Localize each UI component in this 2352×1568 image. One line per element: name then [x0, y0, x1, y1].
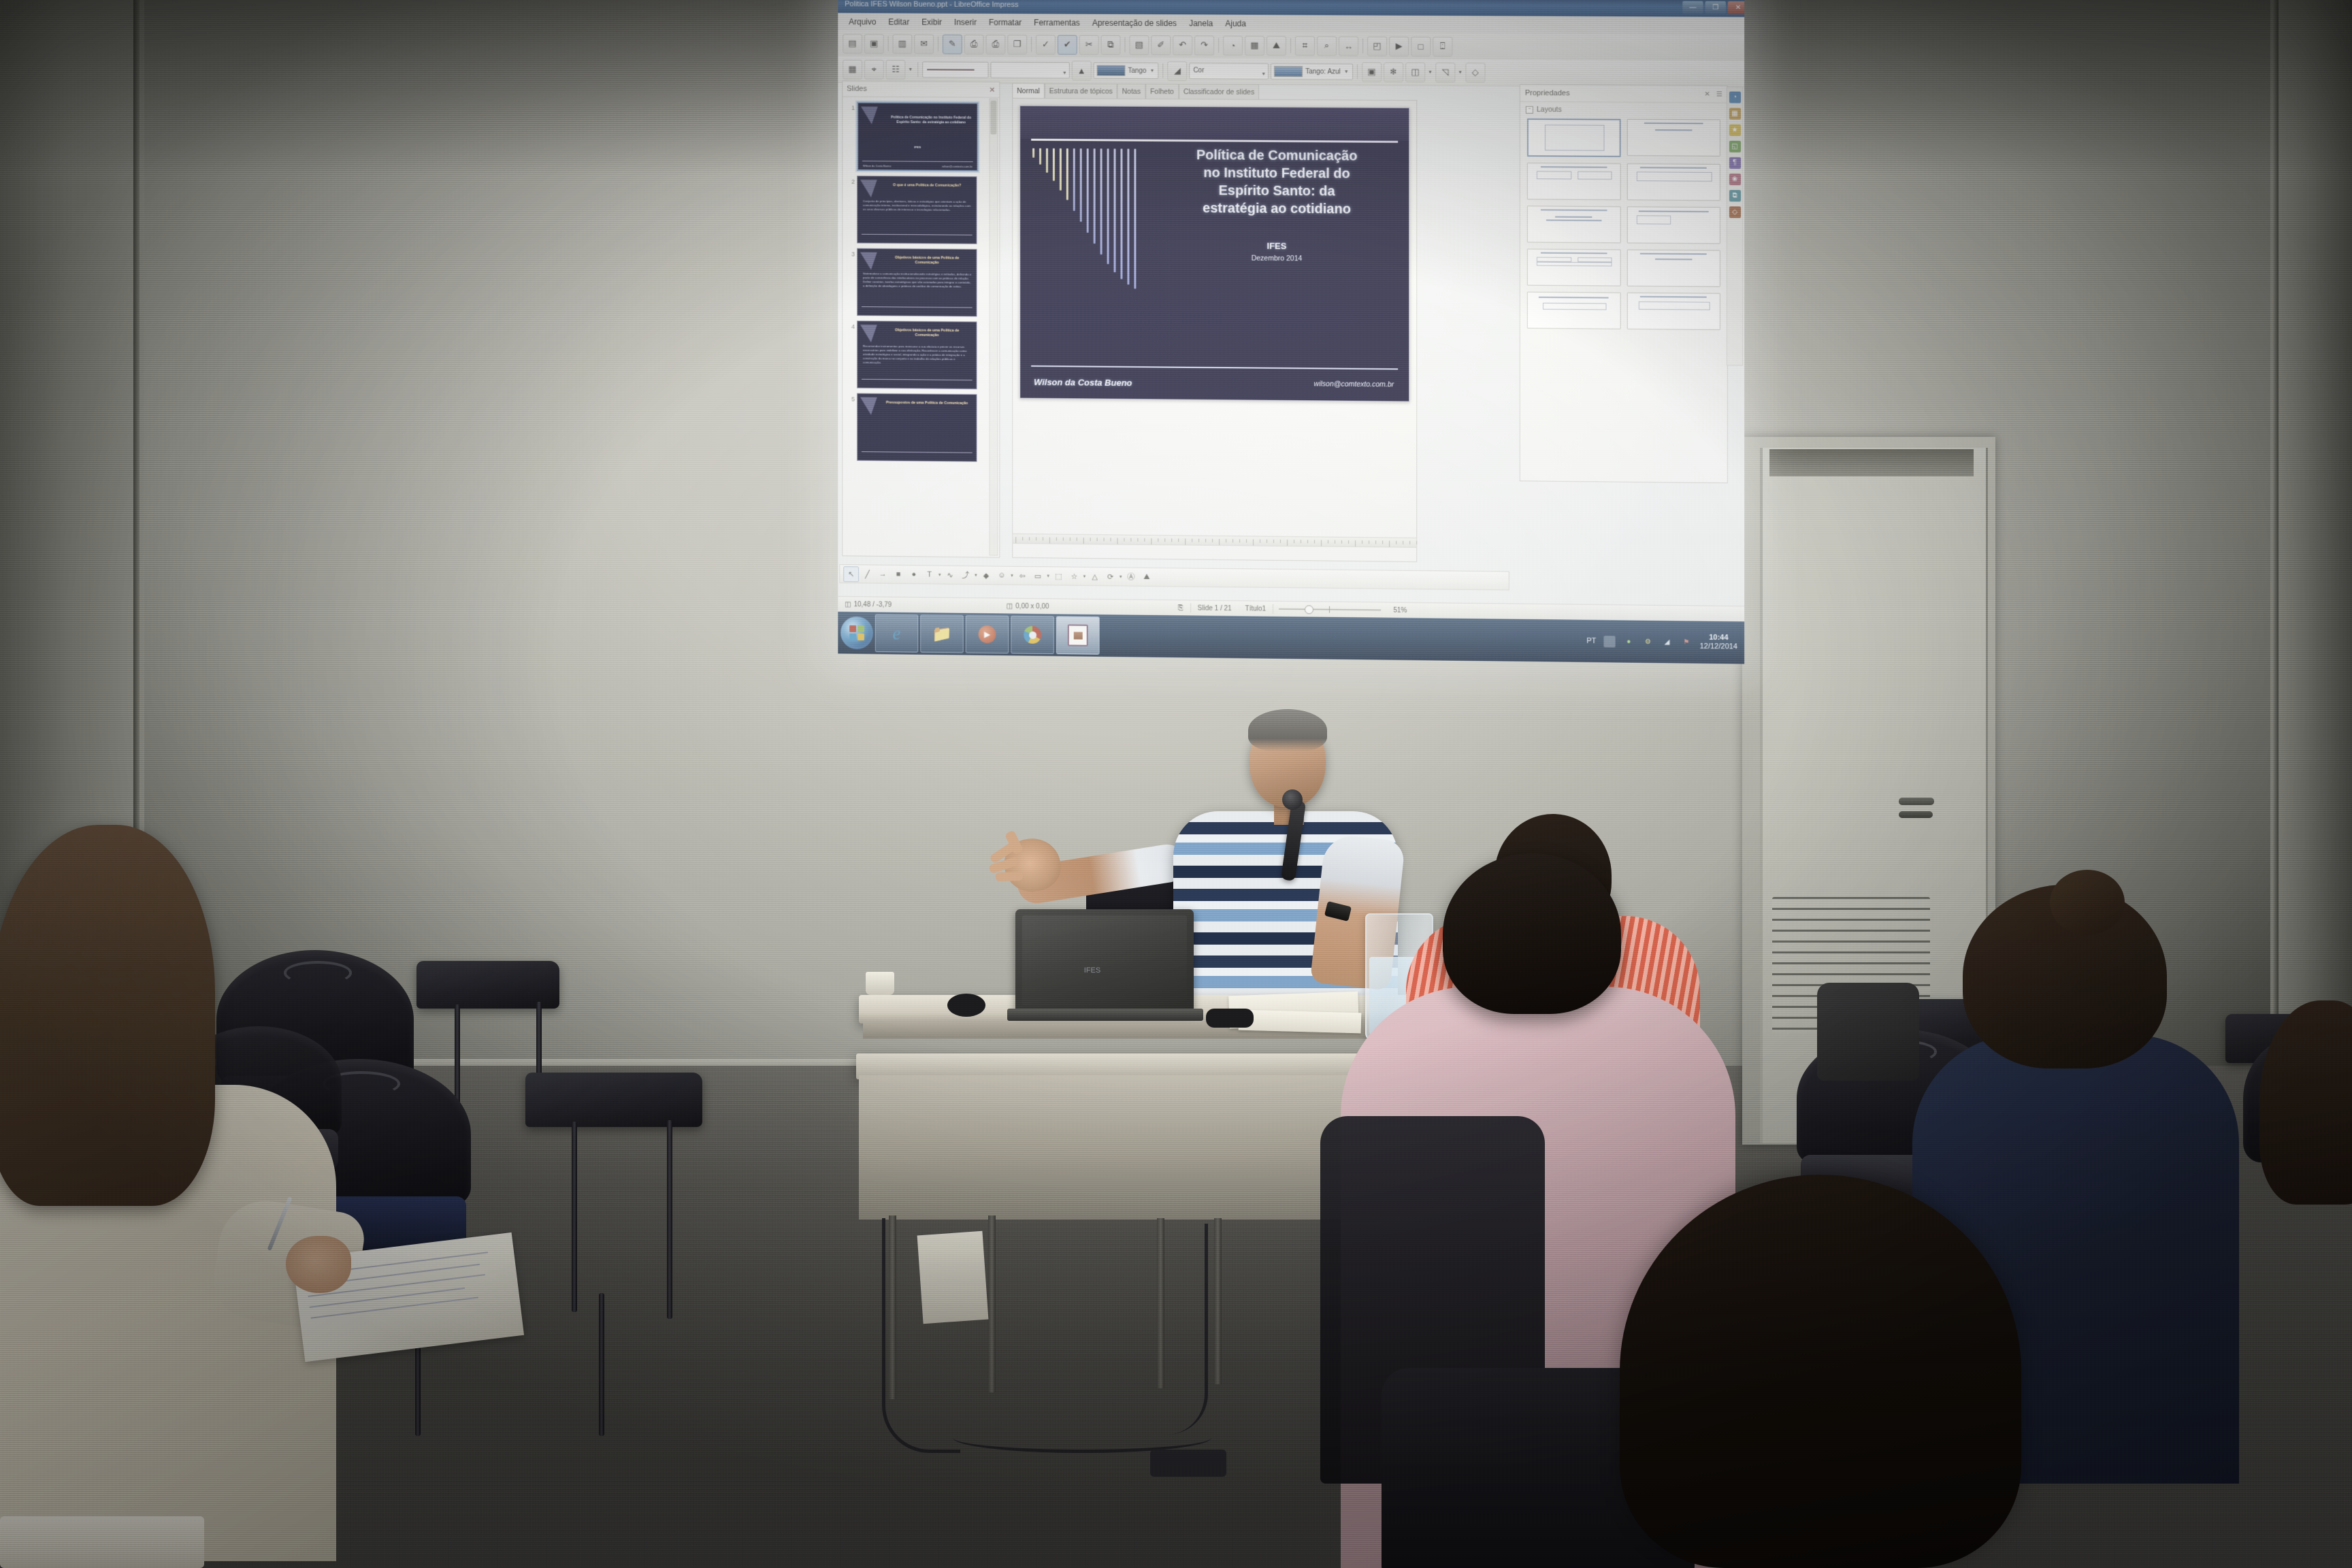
layout-placeholder: [1537, 261, 1612, 266]
table-leg: [988, 1215, 996, 1392]
slide-org-text[interactable]: IFES: [1156, 240, 1398, 252]
ruler-tick: [1253, 539, 1254, 545]
start-button[interactable]: [840, 617, 873, 649]
slide-thumbnail-row[interactable]: 4Objetivos básicos de uma Política de Co…: [845, 321, 991, 389]
curve-tool-icon[interactable]: ∿: [943, 568, 957, 582]
audience-bun-woman-bun: [2050, 870, 2125, 935]
thumb-author: Wilson da Costa Bueno: [863, 164, 891, 167]
menu-item-apresenta-o-de-slides[interactable]: Apresentação de slides: [1087, 17, 1182, 30]
zoom-percent-value[interactable]: 51%: [1386, 606, 1414, 614]
door-lock-icon[interactable]: [1899, 811, 1933, 818]
email-document-icon[interactable]: ✉: [914, 34, 934, 54]
ruler-tick: [1212, 539, 1213, 542]
layout-placeholder: [1541, 166, 1607, 168]
ruler-tick: [1185, 538, 1186, 544]
floor-power-strip: [1150, 1450, 1226, 1477]
insert-table-icon[interactable]: ▦: [1245, 35, 1264, 55]
ruler-tick: [1232, 539, 1233, 542]
line-width-caret-icon[interactable]: ▼: [1062, 66, 1067, 81]
slide-number: 1: [845, 101, 857, 111]
layout-placeholder: [1546, 219, 1601, 221]
ruler-tick: [1416, 541, 1417, 544]
ruler-tick: [1328, 540, 1328, 544]
cursor-position-value: 10,48 / -3,79: [854, 601, 892, 609]
toolbar-separator: [1218, 38, 1219, 53]
menu-item-janela[interactable]: Janela: [1183, 17, 1218, 29]
clock-date: 12/12/2014: [1699, 642, 1737, 652]
slide-decoration-icon: [860, 252, 877, 270]
print-document-icon[interactable]: ⎙: [986, 34, 1006, 54]
paste-icon[interactable]: ▧: [1129, 35, 1149, 54]
mic-cable-coil: [1206, 1009, 1254, 1028]
slide-bar: [1080, 148, 1082, 222]
basic-shapes-tool-icon[interactable]: ◆: [979, 568, 994, 583]
object-size-value: 0,00 x 0,00: [1015, 602, 1049, 610]
arrange-caret-icon[interactable]: ▼: [1458, 70, 1463, 75]
ruler-tick: [1273, 540, 1274, 543]
paper-on-shelf: [917, 1231, 989, 1324]
menu-item-arquivo[interactable]: Arquivo: [843, 16, 881, 28]
ruler-tick: [1321, 540, 1322, 546]
taskbar-clock[interactable]: 10:44 12/12/2014: [1699, 634, 1737, 652]
layouts-section-header[interactable]: − Layouts: [1520, 102, 1727, 118]
maximize-button[interactable]: ❐: [1705, 1, 1726, 14]
internet-explorer-icon[interactable]: e: [875, 614, 918, 652]
size-icon: ◫: [1007, 602, 1013, 610]
ruler-tick: [1280, 540, 1281, 543]
foreground-desk: [0, 1516, 204, 1568]
ruler-tick: [1111, 538, 1111, 541]
ruler-tick: [1409, 541, 1410, 544]
file-explorer-icon[interactable]: 📁: [920, 615, 964, 653]
undo-icon[interactable]: ↶: [1173, 35, 1192, 55]
thumb-org: IFES: [858, 145, 977, 149]
ruler-tick: [1382, 540, 1383, 544]
ruler-tick: [1117, 538, 1118, 544]
line-color-picker-icon[interactable]: ▲: [1072, 61, 1092, 80]
network-icon[interactable]: [1603, 636, 1615, 647]
ruler-tick: [1375, 540, 1376, 544]
layout-option-7[interactable]: [1527, 248, 1620, 286]
slide-edit-area[interactable]: Política de Comunicaçãono Instituto Fede…: [1012, 98, 1417, 562]
tab-estrutura-de-t-picos[interactable]: Estrutura de tópicos: [1045, 83, 1117, 99]
tool-caret-icon[interactable]: ▾: [1120, 574, 1122, 579]
slide-bar: [1114, 148, 1116, 272]
slide-title-line: Política de Comunicação: [1156, 146, 1398, 165]
projected-screen: Politica IFES Wilson Bueno.ppt - LibreOf…: [838, 0, 1744, 664]
slide-thumbnail-2[interactable]: O que é uma Política de Comunicação?Conj…: [857, 176, 977, 244]
slides-panel-header: Slides ✕: [843, 82, 999, 98]
ruler-tick: [1267, 540, 1267, 543]
door-top-reveal: [1769, 449, 1974, 476]
tool-caret-icon[interactable]: ▾: [1083, 574, 1085, 579]
layout-option-6[interactable]: [1627, 206, 1720, 244]
antivirus-icon[interactable]: ●: [1623, 636, 1635, 647]
ruler-tick: [1036, 537, 1036, 540]
layout-placeholder: [1637, 172, 1712, 182]
ruler-tick: [1090, 538, 1091, 541]
open-document-icon[interactable]: ▣: [864, 34, 884, 54]
layouts-section-label: Layouts: [1537, 105, 1562, 114]
zoom-slider-mid-tick: [1329, 606, 1330, 613]
slide-thumbnail-row[interactable]: 2O que é uma Política de Comunicação?Con…: [845, 176, 991, 244]
layout-option-8[interactable]: [1627, 249, 1720, 287]
tab-normal[interactable]: Normal: [1012, 83, 1045, 98]
line-width-field[interactable]: ▼: [990, 62, 1069, 79]
window-title: Politica IFES Wilson Bueno.ppt - LibreOf…: [845, 0, 1018, 9]
toolbar-separator: [1362, 39, 1363, 54]
ruler-tick: [1022, 537, 1023, 540]
ellipse-tool-icon[interactable]: ●: [906, 568, 921, 582]
insert-image-tool-icon[interactable]: ⛰: [1139, 570, 1154, 584]
line-tool-icon[interactable]: ╱: [860, 567, 875, 581]
ruler-tick: [1389, 540, 1390, 546]
toolbar-separator: [1031, 37, 1032, 52]
slide-canvas[interactable]: Política de Comunicaçãono Instituto Fede…: [1019, 105, 1409, 402]
slide-thumbnail-4[interactable]: Objetivos básicos de uma Política de Com…: [857, 321, 977, 389]
print-preview-icon[interactable]: ❐: [1007, 35, 1027, 54]
slide-thumbnail-row[interactable]: 3Objetivos básicos de uma Política de Co…: [845, 248, 991, 316]
insert-chart-icon[interactable]: ◔: [1223, 35, 1243, 55]
thumb-rule: [862, 379, 973, 380]
panel-menu-icon[interactable]: ☰: [1716, 91, 1722, 98]
paper-sheet: [1239, 1010, 1362, 1034]
slide-bar: [1073, 148, 1075, 211]
export-pdf-icon[interactable]: ⎙: [964, 34, 984, 54]
insert-image-icon[interactable]: ⛰: [1267, 35, 1286, 55]
finger: [996, 872, 1023, 881]
menu-item-inserir[interactable]: Inserir: [949, 16, 982, 29]
line-color-swatch: [1097, 65, 1126, 76]
volume-icon[interactable]: ◢: [1661, 636, 1673, 648]
fill-color-caret-icon[interactable]: ▼: [1344, 69, 1349, 74]
slides-panel-title: Slides: [847, 85, 867, 93]
snap-icon[interactable]: ☷: [886, 60, 906, 80]
close-icon[interactable]: ✕: [1704, 91, 1710, 98]
slide-number: 5: [845, 393, 857, 402]
ruler-tick: [1178, 538, 1179, 542]
ruler-tick: [1369, 540, 1369, 544]
rectangle-tool-icon[interactable]: ■: [892, 567, 906, 581]
rotate-tool-icon[interactable]: ⟳: [1103, 570, 1117, 584]
slide-bar: [1087, 148, 1089, 233]
ruler-tick: [1198, 539, 1199, 542]
master-slides-icon[interactable]: ◱: [1729, 141, 1740, 152]
ruler-tick: [1097, 538, 1098, 541]
crop-icon[interactable]: ▣: [1362, 62, 1382, 82]
thumb-footer: Wilson da Costa Buenowilson@comtexto.com…: [863, 164, 973, 168]
ruler-tick: [1341, 540, 1342, 544]
edit-points-icon[interactable]: ◇: [1465, 63, 1485, 82]
fill-style-value: Cor: [1193, 67, 1204, 74]
audience-foreground-head: [1620, 1175, 2021, 1568]
slide-bar: [1060, 148, 1062, 191]
slide-bottom-rule: [1031, 365, 1398, 370]
fill-style-caret-icon[interactable]: ▼: [1261, 67, 1266, 82]
new-document-icon[interactable]: ▤: [843, 33, 862, 53]
slide-decoration-icon: [861, 107, 878, 125]
slide-author-text[interactable]: Wilson da Costa Bueno: [1034, 377, 1132, 388]
layout-option-4[interactable]: [1627, 163, 1720, 201]
sidebar-rail[interactable]: ◔▦★◱¶❀⧉◇: [1727, 86, 1743, 365]
thumb-rule: [862, 234, 973, 235]
tab-folheto[interactable]: Folheto: [1145, 84, 1179, 99]
line-style-select[interactable]: [922, 61, 988, 78]
slide-email-text[interactable]: wilson@comtexto.com.br: [1314, 380, 1394, 389]
menu-item-ferramentas[interactable]: Ferramentas: [1028, 16, 1085, 29]
chrome-icon[interactable]: [1011, 616, 1054, 655]
ruler-tick: [1260, 540, 1260, 543]
flowchart-tool-icon[interactable]: ▭: [1031, 569, 1045, 583]
ruler-tick: [1056, 538, 1057, 541]
select-tool-icon[interactable]: ↖: [843, 566, 859, 582]
layout-placeholder: [1655, 129, 1692, 131]
slide-bar: [1100, 148, 1102, 255]
display-grid-icon[interactable]: ⌗: [1295, 36, 1315, 56]
align-objects-icon[interactable]: ◫: [1405, 62, 1425, 82]
microphone-head-icon: [1282, 789, 1303, 810]
layout-placeholder: [1638, 301, 1710, 310]
copy-icon[interactable]: ⧉: [1101, 35, 1121, 54]
layout-option-2[interactable]: [1627, 119, 1720, 157]
zoom-slider-knob[interactable]: [1305, 605, 1313, 614]
slide-bar: [1107, 148, 1109, 264]
position-icon: ◫: [845, 600, 851, 608]
ruler-tick: [1083, 538, 1084, 544]
window-controls: — ❐ ✕: [1682, 1, 1744, 15]
master-slide-icon[interactable]: ◰: [1367, 36, 1387, 56]
arrow-tool-icon[interactable]: →: [876, 567, 890, 581]
menu-item-exibir[interactable]: Exibir: [916, 16, 947, 29]
scrollbar-thumb[interactable]: [990, 101, 996, 135]
slide-thumbnail-row[interactable]: 5Pressupostos de uma Política de Comunic…: [845, 393, 991, 462]
fill-color-swatch: [1274, 66, 1303, 77]
autospellcheck-icon[interactable]: ✔: [1058, 35, 1077, 54]
slide-bar: [1127, 149, 1129, 285]
toolbar-separator: [917, 62, 918, 77]
layout-placeholder: [1541, 210, 1607, 212]
line-color-select[interactable]: Tango ▼: [1094, 63, 1159, 79]
thumb-title: Pressupostos de uma Política de Comunica…: [883, 401, 971, 406]
clock-time: 10:44: [1709, 634, 1728, 642]
layout-option-1[interactable]: [1527, 118, 1620, 157]
display-grid-icon[interactable]: ▦: [843, 59, 862, 79]
ruler-tick: [1043, 537, 1043, 540]
slide-date-text[interactable]: Dezembro 2014: [1156, 254, 1398, 264]
stars-tool-icon[interactable]: ☆: [1067, 569, 1081, 583]
slides-panel-scrollbar[interactable]: [989, 99, 998, 556]
fontwork-tool-icon[interactable]: Ⓐ: [1124, 570, 1139, 584]
slide-counter-field: Slide 1 / 21: [1191, 604, 1239, 612]
connector-tool-icon[interactable]: ⤴: [958, 568, 973, 582]
layout-option-9[interactable]: [1527, 292, 1620, 329]
slide-title-line: estratégia ao cotidiano: [1156, 199, 1398, 218]
ruler-tick: [1301, 540, 1301, 543]
slide-thumbnail-1[interactable]: Política de Comunicação no Instituto Fed…: [857, 102, 979, 172]
slide-bar: [1066, 148, 1068, 200]
callouts-tool-icon[interactable]: ⬚: [1051, 569, 1066, 583]
windows-logo-icon: [849, 625, 864, 640]
language-indicator[interactable]: PT: [1586, 637, 1596, 645]
properties-icon[interactable]: ◔: [1729, 91, 1740, 103]
slide-transition-icon[interactable]: ▦: [1729, 108, 1740, 120]
animation-icon[interactable]: ★: [1729, 125, 1740, 136]
slide-decoration-icon: [860, 397, 877, 415]
save-document-icon[interactable]: ▥: [893, 34, 913, 54]
layout-placeholder: [1638, 211, 1708, 213]
layout-placeholder: [1578, 171, 1612, 180]
shadow-icon[interactable]: ◢: [1167, 61, 1187, 81]
impress-icon[interactable]: [1056, 616, 1100, 655]
clone-formatting-icon[interactable]: ✐: [1151, 35, 1171, 55]
collapse-icon[interactable]: −: [1526, 105, 1533, 113]
master-name-field: Título1: [1239, 605, 1273, 613]
update-icon[interactable]: ⚙: [1642, 636, 1654, 647]
slide-bar: [1046, 148, 1048, 173]
snap-caret-icon[interactable]: ▼: [908, 67, 913, 72]
ruler-tick: [1396, 541, 1396, 544]
redo-icon[interactable]: ↷: [1194, 35, 1214, 55]
slide-thumbnail-3[interactable]: Objetivos básicos de uma Política de Com…: [857, 248, 977, 317]
chair-tablet-arm: [525, 1073, 702, 1127]
audience-pink-shirt-head: [1443, 853, 1621, 1014]
tool-caret-icon[interactable]: ▾: [938, 572, 941, 578]
properties-panel-title: Propriedades: [1525, 89, 1570, 97]
layout-option-10[interactable]: [1627, 293, 1720, 330]
ruler-tick: [1124, 538, 1124, 542]
modified-indicator: ⎘: [1171, 604, 1190, 612]
laptop-sticker: IFES: [1041, 965, 1143, 1000]
toolbar-separator: [1124, 37, 1125, 52]
status-separator-2: [1273, 604, 1273, 614]
cut-icon[interactable]: ✂: [1079, 35, 1099, 54]
display-views-icon[interactable]: ↔: [1339, 36, 1358, 56]
layout-placeholder: [1644, 122, 1703, 124]
layout-option-5[interactable]: [1527, 206, 1620, 243]
ruler-tick: [1355, 540, 1356, 546]
door-handle-icon[interactable]: [1899, 798, 1934, 805]
styles-icon[interactable]: ¶: [1729, 157, 1740, 169]
layout-placeholder: [1655, 259, 1692, 260]
vga-cable: [1150, 1224, 1208, 1435]
align-caret-icon[interactable]: ▼: [1428, 70, 1433, 75]
layout-grid[interactable]: [1520, 117, 1727, 330]
backpack: [1817, 983, 1919, 1081]
tab-notas[interactable]: Notas: [1117, 84, 1145, 99]
system-tray: PT ● ⚙ ◢ ⚑ 10:44 12/12/2014: [1586, 632, 1744, 652]
minimize-button[interactable]: —: [1682, 1, 1703, 14]
block-arrows-tool-icon[interactable]: ⇦: [1015, 568, 1030, 583]
arrange-icon[interactable]: ◹: [1435, 63, 1455, 82]
slide-decorative-bars: [1032, 148, 1147, 285]
layout-placeholder: [1541, 252, 1607, 255]
slide-thumbnail-row[interactable]: 1Política de Comunicação no Instituto Fe…: [845, 101, 991, 171]
slide-bar: [1032, 148, 1034, 158]
ruler-tick: [1403, 541, 1403, 544]
menu-item-ajuda[interactable]: Ajuda: [1220, 18, 1252, 30]
slide-number: 4: [845, 321, 857, 330]
chair-leg: [572, 1122, 577, 1312]
shapes-icon[interactable]: ◇: [1729, 206, 1740, 218]
slide-title-text[interactable]: Política de Comunicaçãono Instituto Fede…: [1156, 146, 1398, 218]
tool-caret-icon[interactable]: ▾: [1047, 573, 1049, 578]
toolbar-separator: [1290, 38, 1291, 53]
helplines-icon[interactable]: ⍠: [1433, 36, 1452, 56]
edit-file-icon[interactable]: ✎: [943, 34, 962, 54]
thumb-rule: [862, 306, 973, 308]
close-icon[interactable]: ✕: [989, 85, 995, 94]
slide-properties-icon[interactable]: □: [1411, 36, 1431, 56]
laptop-keyboard-base: [1007, 1009, 1203, 1021]
tool-caret-icon[interactable]: ▾: [975, 572, 977, 578]
layout-option-3[interactable]: [1527, 163, 1620, 200]
ruler-tick: [1239, 539, 1240, 542]
symbol-shapes-tool-icon[interactable]: ☺: [994, 568, 1009, 583]
ruler-tick: [1192, 539, 1192, 542]
ruler-tick: [1104, 538, 1105, 541]
ruler-tick: [1287, 540, 1288, 546]
ruler-tick: [1151, 538, 1151, 544]
tool-caret-icon[interactable]: ▾: [1011, 573, 1013, 578]
slide-number: 2: [845, 176, 857, 185]
helplines-icon[interactable]: ⌖: [864, 59, 884, 79]
line-color-caret-icon[interactable]: ▼: [1150, 68, 1155, 73]
3d-objects-tool-icon[interactable]: △: [1088, 569, 1102, 583]
slide-bar: [1134, 149, 1136, 289]
thumb-title: Objetivos básicos de uma Política de Com…: [883, 328, 971, 338]
ruler-tick: [1015, 537, 1016, 543]
front-table-panel: [859, 1075, 1391, 1220]
slide-thumbnail-list[interactable]: 1Política de Comunicação no Instituto Fe…: [843, 97, 991, 556]
thumb-rule: [862, 161, 973, 162]
navigator-icon[interactable]: ⧉: [1729, 190, 1740, 201]
menu-item-editar[interactable]: Editar: [883, 16, 915, 28]
ruler-tick: [1144, 538, 1145, 542]
object-size-field: ◫ 0,00 x 0,00: [1000, 602, 1056, 610]
spelling-check-icon[interactable]: ✓: [1036, 35, 1056, 54]
laptop-mouse: [947, 994, 985, 1017]
close-button[interactable]: ✕: [1728, 1, 1744, 14]
layout-placeholder: [1539, 297, 1609, 299]
action-center-icon[interactable]: ⚑: [1680, 636, 1692, 648]
table-leg: [1214, 1218, 1222, 1384]
ruler-tick: [1029, 537, 1030, 540]
start-slideshow-icon[interactable]: ▶: [1389, 36, 1409, 56]
toolbar-separator-2: [1162, 63, 1163, 78]
audience-left-woman-hair: [0, 825, 215, 1206]
thumb-title: Política de Comunicação no Instituto Fed…: [889, 116, 973, 126]
media-player-icon[interactable]: ▶: [966, 615, 1009, 654]
ruler-tick: [1307, 540, 1308, 543]
tab-classificador-de-slides[interactable]: Classificador de slides: [1179, 84, 1259, 99]
gallery-icon[interactable]: ❀: [1729, 174, 1740, 185]
thumb-body: Recomendar instrumentos para mensurar a …: [863, 344, 973, 365]
filter-icon[interactable]: ❄: [1384, 62, 1403, 82]
fill-color-select[interactable]: Tango: Azul ▼: [1271, 63, 1353, 80]
zoom-slider[interactable]: [1279, 605, 1381, 615]
menu-item-formatar[interactable]: Formatar: [983, 16, 1027, 29]
toolbar-separator: [888, 36, 889, 51]
ruler-tick: [1226, 539, 1226, 542]
zoom-icon[interactable]: ⌕: [1317, 36, 1337, 56]
audience-left-woman-hand: [286, 1236, 351, 1293]
ruler-tick: [1205, 539, 1206, 542]
fill-style-select[interactable]: Cor ▼: [1189, 63, 1269, 80]
thumb-body: Conjunto de princípios, diretrizes, táti…: [863, 199, 973, 212]
text-tool-icon[interactable]: T: [922, 568, 936, 582]
slide-thumbnail-5[interactable]: Pressupostos de uma Política de Comunica…: [857, 393, 977, 462]
slide-top-band: [1020, 106, 1409, 141]
